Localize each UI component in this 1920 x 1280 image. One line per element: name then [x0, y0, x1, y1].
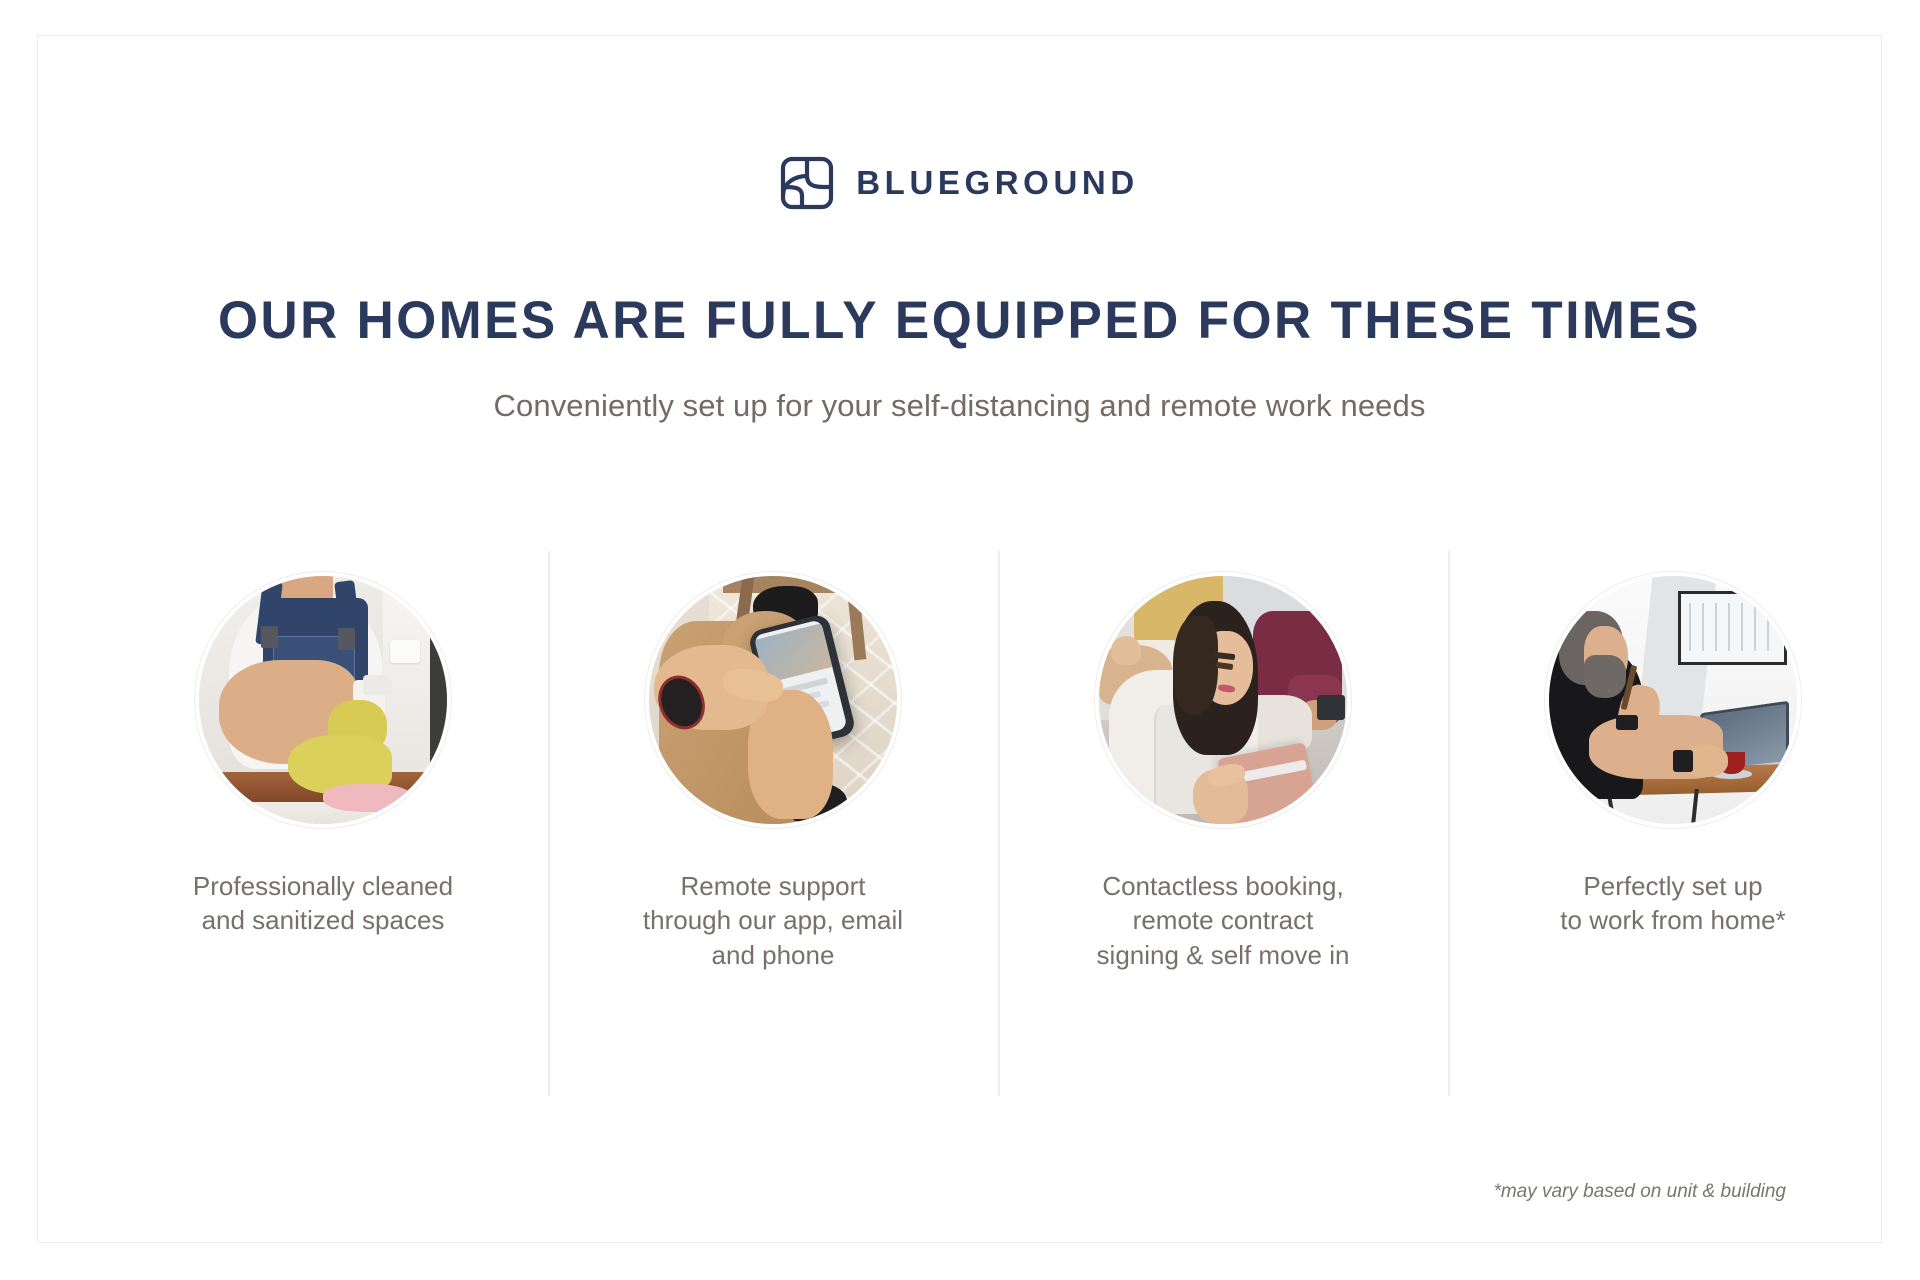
- feature-image-ring: [1544, 571, 1802, 829]
- feature-caption: Professionally cleaned and sanitized spa…: [193, 869, 453, 938]
- page-frame: BLUEGROUND OUR HOMES ARE FULLY EQUIPPED …: [37, 35, 1882, 1243]
- page-subtitle: Conveniently set up for your self-distan…: [38, 388, 1881, 424]
- feature-column-remote-support: Remote support through our app, email an…: [548, 551, 998, 1096]
- feature-column-professionally-cleaned: Professionally cleaned and sanitized spa…: [98, 551, 548, 1096]
- infographic-page: BLUEGROUND OUR HOMES ARE FULLY EQUIPPED …: [0, 0, 1920, 1280]
- feature-image-ring: [644, 571, 902, 829]
- feature-image-ring: [1094, 571, 1352, 829]
- feature-image-ring: [194, 571, 452, 829]
- tablet-booking-photo: [1099, 576, 1347, 824]
- feature-caption: Remote support through our app, email an…: [643, 869, 903, 972]
- cleaning-photo: [199, 576, 447, 824]
- feature-caption: Perfectly set up to work from home*: [1560, 869, 1785, 938]
- feature-caption: Contactless booking, remote contract sig…: [1097, 869, 1350, 972]
- feature-column-work-from-home: Perfectly set up to work from home*: [1448, 551, 1898, 1096]
- blueground-square-logo-icon: [780, 156, 834, 210]
- footnote: *may vary based on unit & building: [1493, 1181, 1786, 1203]
- work-from-home-photo: [1549, 576, 1797, 824]
- page-title: OUR HOMES ARE FULLY EQUIPPED FOR THESE T…: [66, 290, 1854, 351]
- feature-column-contactless-booking: Contactless booking, remote contract sig…: [998, 551, 1448, 1096]
- phone-app-photo: [649, 576, 897, 824]
- feature-columns: Professionally cleaned and sanitized spa…: [98, 551, 1898, 1096]
- brand-wordmark: BLUEGROUND: [856, 164, 1139, 202]
- brand-logo: BLUEGROUND: [38, 156, 1881, 210]
